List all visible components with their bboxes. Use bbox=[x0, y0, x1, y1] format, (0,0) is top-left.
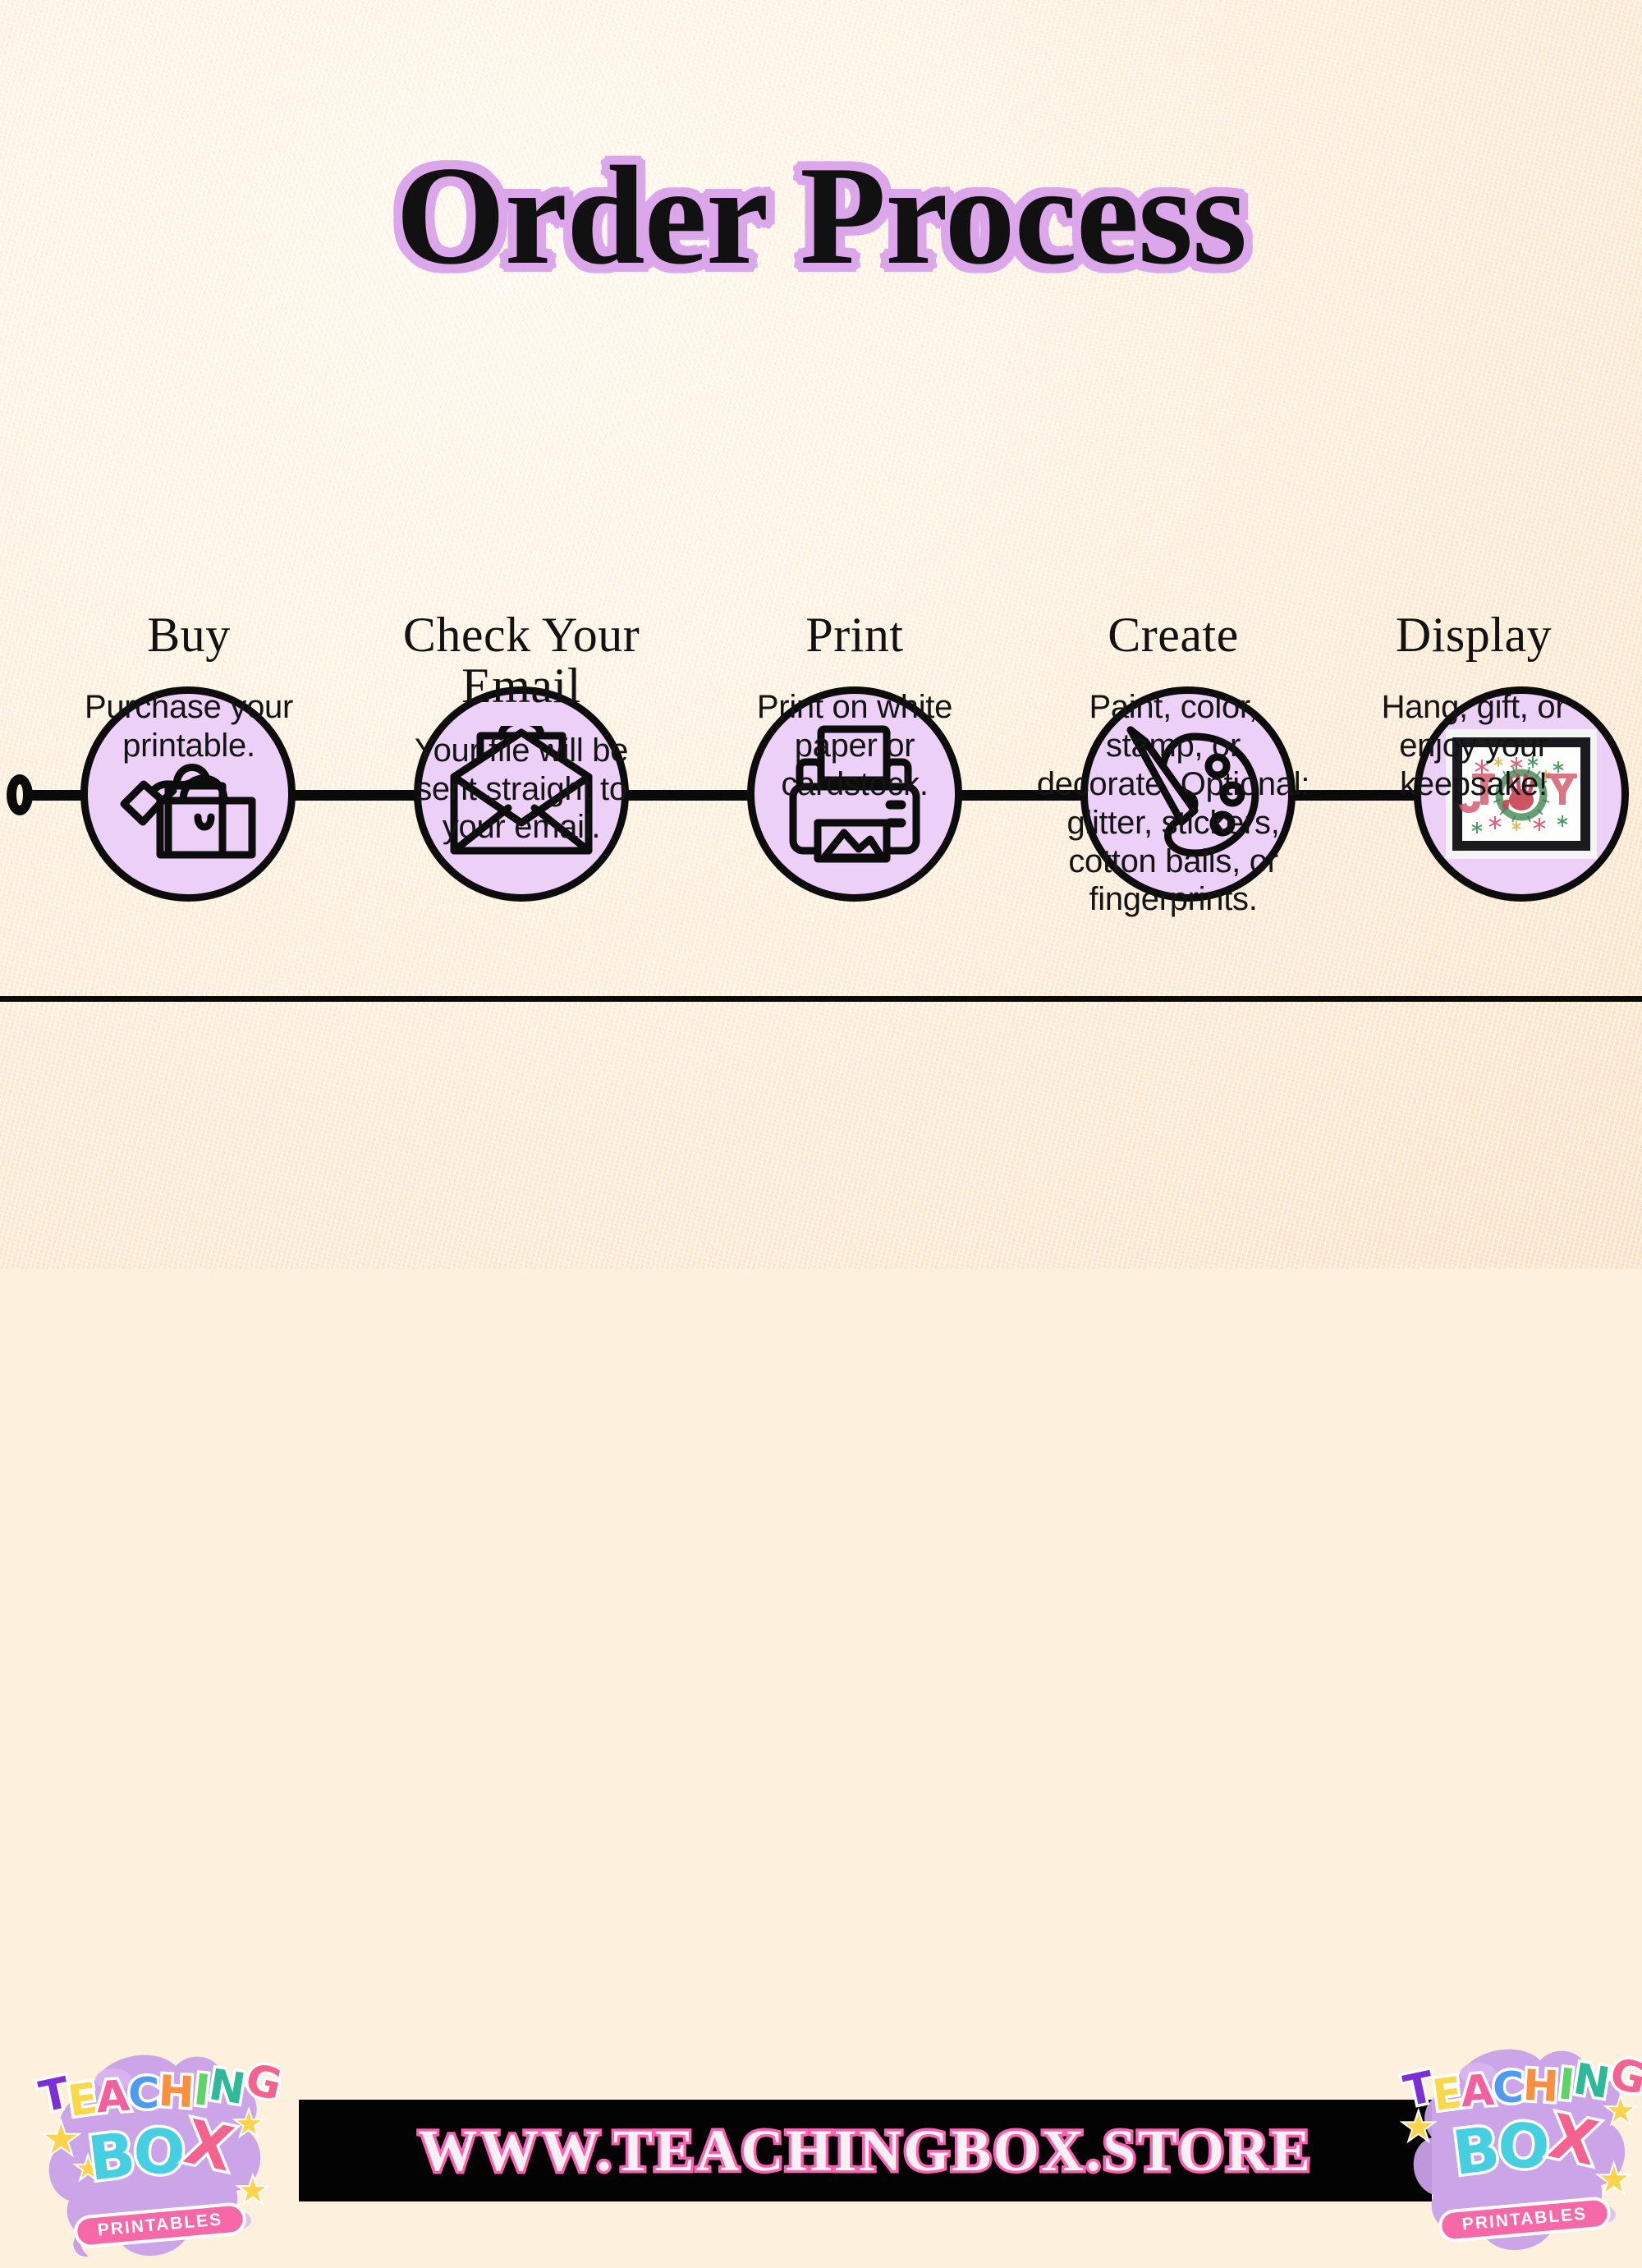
step-column-print: Print Print on white paper or cardstock. bbox=[713, 609, 997, 804]
step-body: Print on white paper or cardstock. bbox=[713, 688, 997, 803]
step-body: Your file will be sent straight to your … bbox=[379, 732, 663, 847]
step-descriptions: Buy Purchase your printable. Check Your … bbox=[0, 609, 1642, 979]
step-body: Purchase your printable. bbox=[49, 688, 328, 765]
logo-word-box: BOX bbox=[31, 2122, 286, 2192]
page-title: Order Process bbox=[0, 145, 1642, 287]
logo-word-teaching: TEACHING bbox=[1396, 2062, 1642, 2111]
step-column-check-email: Check Your Email Your file will be sent … bbox=[379, 609, 663, 847]
step-heading: Create bbox=[1031, 609, 1315, 660]
step-column-display: Display Hang, gift, or enjoy your keepsa… bbox=[1332, 609, 1616, 804]
logo-word-teaching: TEACHING bbox=[31, 2068, 286, 2117]
step-column-create: Create Paint, color, stamp, or decorate.… bbox=[1031, 609, 1315, 919]
website-url-banner[interactable]: WWW.TEACHINGBOX.STORE bbox=[299, 2100, 1432, 2201]
logo-word-box: BOX bbox=[1396, 2116, 1642, 2187]
website-url: WWW.TEACHINGBOX.STORE bbox=[419, 2117, 1313, 2185]
footer-divider bbox=[0, 996, 1642, 1002]
footer: ★ ★ ★ ★ TEACHING BOX PRINTABLES WWW.TEAC… bbox=[0, 1002, 1642, 1269]
order-process-timeline bbox=[0, 338, 1642, 544]
step-heading: Buy bbox=[49, 609, 328, 660]
step-heading: Check Your Email bbox=[379, 609, 663, 712]
brand-logo-left: ★ ★ ★ ★ TEACHING BOX PRINTABLES bbox=[31, 2030, 286, 2268]
step-heading: Print bbox=[713, 609, 997, 660]
step-body: Hang, gift, or enjoy your keepsake! bbox=[1332, 688, 1616, 803]
logo-tagline: PRINTABLES bbox=[1461, 2204, 1588, 2234]
logo-tagline: PRINTABLES bbox=[97, 2210, 223, 2240]
step-column-buy: Buy Purchase your printable. bbox=[49, 609, 328, 765]
step-body: Paint, color, stamp, or decorate. Option… bbox=[1031, 688, 1315, 919]
step-heading: Display bbox=[1332, 609, 1616, 660]
brand-logo-right: ★ ★ ★ TEACHING BOX PRINTABLES bbox=[1396, 2024, 1642, 2262]
